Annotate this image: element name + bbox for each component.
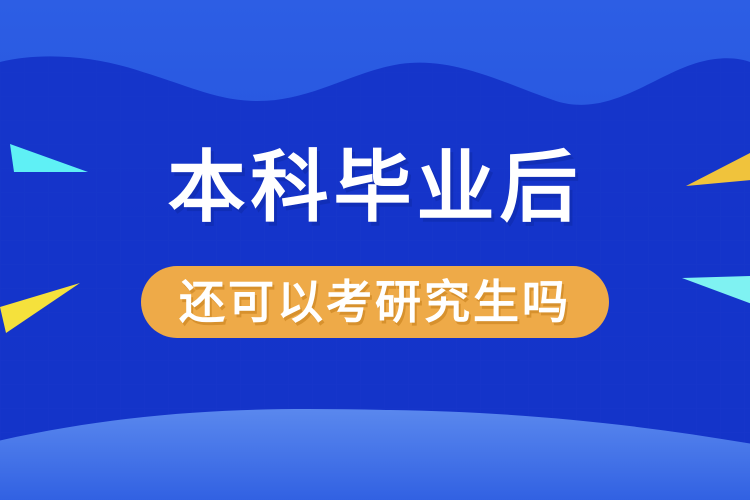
banner-headline: 本科毕业后 [0,148,750,226]
subtitle-pill: 还可以考研究生吗 [141,266,609,338]
subtitle-pill-label: 还可以考研究生吗 [179,279,571,325]
bottom-wave-shape [0,0,750,500]
promo-banner: 本科毕业后 还可以考研究生吗 [0,0,750,500]
subtitle-pill-container: 还可以考研究生吗 [0,266,750,338]
